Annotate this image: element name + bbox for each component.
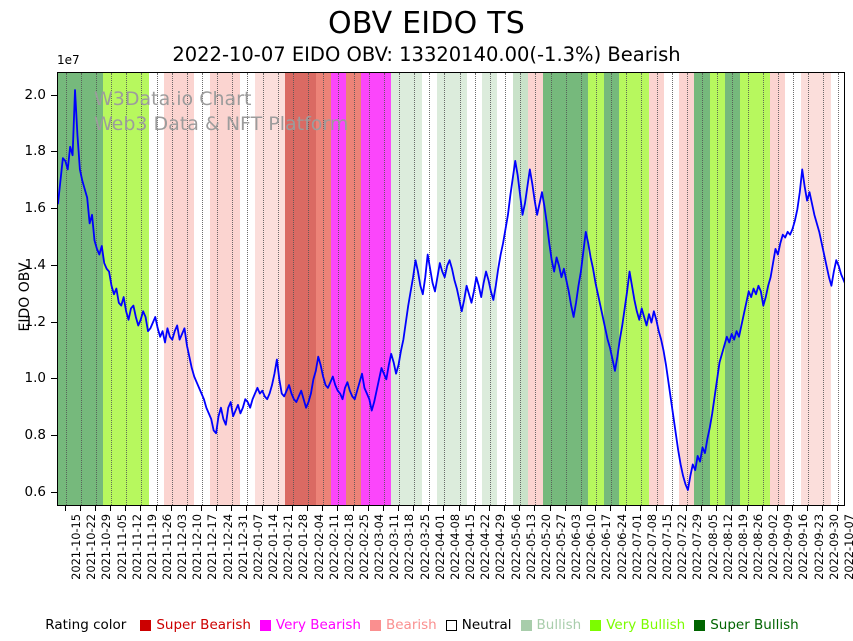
x-tick-label: 2022-03-11 <box>387 514 401 580</box>
x-tick-mark <box>216 506 217 511</box>
x-tick-label: 2022-07-22 <box>675 514 689 580</box>
x-tick-label: 2022-09-23 <box>812 514 826 580</box>
x-tick-label: 2022-09-09 <box>781 514 795 580</box>
x-tick-mark <box>550 506 551 511</box>
y-tick-label: 0.8 <box>0 427 46 443</box>
x-tick-label: 2021-12-24 <box>221 514 235 580</box>
x-tick-mark <box>822 506 823 511</box>
y-tick-label: 0.6 <box>0 484 46 500</box>
x-tick-label: 2022-05-20 <box>539 514 553 580</box>
x-tick-mark <box>307 506 308 511</box>
x-tick-mark <box>701 506 702 511</box>
x-tick-label: 2022-04-01 <box>433 514 447 580</box>
chart-subtitle: 2022-10-07 EIDO OBV: 13320140.00(-1.3%) … <box>0 43 853 66</box>
x-tick-mark <box>277 506 278 511</box>
y-tick-label: 2.0 <box>0 87 46 103</box>
x-tick-label: 2022-02-04 <box>312 514 326 580</box>
x-tick-label: 2022-07-01 <box>630 514 644 580</box>
x-tick-label: 2022-03-18 <box>402 514 416 580</box>
x-tick-mark <box>504 506 505 511</box>
x-tick-mark <box>95 506 96 511</box>
x-tick-label: 2021-10-15 <box>69 514 83 580</box>
x-tick-mark <box>656 506 657 511</box>
y-tick-label: 1.8 <box>0 143 46 159</box>
x-tick-mark <box>201 506 202 511</box>
x-tick-label: 2021-11-12 <box>130 514 144 580</box>
x-tick-label: 2022-10-07 <box>842 514 853 580</box>
x-tick-label: 2022-05-13 <box>524 514 538 580</box>
x-tick-label: 2022-04-22 <box>478 514 492 580</box>
legend-label: Very Bearish <box>276 617 361 633</box>
legend-entry[interactable]: Very Bearish <box>260 617 361 633</box>
x-tick-label: 2021-12-10 <box>190 514 204 580</box>
legend-entry[interactable]: Super Bearish <box>140 617 251 633</box>
legend-label: Very Bullish <box>606 617 685 633</box>
x-tick-mark <box>625 506 626 511</box>
x-tick-mark <box>443 506 444 511</box>
x-tick-label: 2022-04-08 <box>448 514 462 580</box>
x-tick-label: 2022-09-30 <box>827 514 841 580</box>
legend-swatch-icon <box>446 620 457 631</box>
x-tick-label: 2021-12-17 <box>205 514 219 580</box>
x-tick-mark <box>231 506 232 511</box>
x-tick-label: 2022-01-21 <box>281 514 295 580</box>
x-tick-mark <box>171 506 172 511</box>
legend-label: Bullish <box>537 617 582 633</box>
x-tick-mark <box>534 506 535 511</box>
x-tick-label: 2022-04-15 <box>463 514 477 580</box>
x-tick-mark <box>337 506 338 511</box>
x-tick-label: 2021-11-26 <box>160 514 174 580</box>
x-tick-mark <box>580 506 581 511</box>
x-tick-label: 2022-08-12 <box>721 514 735 580</box>
x-tick-mark <box>368 506 369 511</box>
x-tick-mark <box>519 506 520 511</box>
plot-area[interactable]: W3Data.io Chart Web3 Data & NFT Platform <box>57 72 845 506</box>
x-tick-mark <box>80 506 81 511</box>
x-tick-mark <box>186 506 187 511</box>
x-tick-label: 2022-02-25 <box>357 514 371 580</box>
x-tick-mark <box>640 506 641 511</box>
x-tick-mark <box>428 506 429 511</box>
x-tick-label: 2021-12-03 <box>175 514 189 580</box>
x-tick-label: 2022-01-28 <box>296 514 310 580</box>
x-tick-mark <box>837 506 838 511</box>
x-tick-label: 2022-05-27 <box>554 514 568 580</box>
legend-entry[interactable]: Neutral <box>446 617 512 633</box>
x-tick-mark <box>459 506 460 511</box>
x-tick-mark <box>140 506 141 511</box>
x-tick-mark <box>716 506 717 511</box>
x-tick-mark <box>610 506 611 511</box>
x-tick-label: 2022-05-06 <box>509 514 523 580</box>
y-axis-title: EIDO OBV <box>17 217 33 377</box>
x-axis: 2021-10-152021-10-222021-10-292021-11-05… <box>0 506 853 606</box>
x-tick-label: 2022-07-15 <box>660 514 674 580</box>
legend-label: Super Bearish <box>156 617 251 633</box>
legend-swatch-icon <box>140 620 151 631</box>
x-tick-label: 2022-08-26 <box>751 514 765 580</box>
x-tick-label: 2022-09-02 <box>766 514 780 580</box>
legend-label: Super Bullish <box>710 617 799 633</box>
x-tick-label: 2021-11-05 <box>115 514 129 580</box>
x-tick-mark <box>292 506 293 511</box>
x-tick-label: 2022-06-03 <box>569 514 583 580</box>
legend-label: Neutral <box>462 617 512 633</box>
x-tick-mark <box>762 506 763 511</box>
legend-swatch-icon <box>521 620 532 631</box>
legend-swatch-icon <box>260 620 271 631</box>
x-tick-mark <box>489 506 490 511</box>
x-tick-mark <box>110 506 111 511</box>
x-tick-label: 2021-10-22 <box>84 514 98 580</box>
x-tick-label: 2022-03-25 <box>418 514 432 580</box>
x-tick-label: 2022-01-14 <box>266 514 280 580</box>
x-tick-mark <box>65 506 66 511</box>
x-tick-mark <box>595 506 596 511</box>
legend-swatch-icon <box>590 620 601 631</box>
x-tick-label: 2021-10-29 <box>99 514 113 580</box>
x-tick-mark <box>353 506 354 511</box>
x-tick-label: 2022-06-24 <box>615 514 629 580</box>
x-tick-mark <box>777 506 778 511</box>
x-tick-mark <box>807 506 808 511</box>
x-tick-label: 2022-07-08 <box>645 514 659 580</box>
y-axis-offset-label: 1e7 <box>57 53 80 67</box>
x-tick-label: 2022-04-29 <box>493 514 507 580</box>
x-tick-label: 2021-11-19 <box>145 514 159 580</box>
obv-line-series <box>58 73 845 506</box>
x-tick-label: 2022-06-10 <box>584 514 598 580</box>
x-tick-mark <box>398 506 399 511</box>
legend-swatch-icon <box>370 620 381 631</box>
legend-entry[interactable]: Bearish <box>370 617 437 633</box>
x-tick-mark <box>565 506 566 511</box>
y-tick-label: 1.6 <box>0 200 46 216</box>
x-tick-label: 2022-03-04 <box>372 514 386 580</box>
x-tick-mark <box>747 506 748 511</box>
x-tick-mark <box>246 506 247 511</box>
page-title: OBV EIDO TS <box>0 6 853 41</box>
x-tick-label: 2022-06-17 <box>599 514 613 580</box>
x-tick-mark <box>671 506 672 511</box>
x-tick-label: 2022-02-18 <box>342 514 356 580</box>
legend-title: Rating color <box>45 617 126 633</box>
x-tick-mark <box>413 506 414 511</box>
legend: Rating color Super BearishVery BearishBe… <box>0 612 853 638</box>
x-tick-mark <box>474 506 475 511</box>
x-tick-mark <box>262 506 263 511</box>
legend-entry[interactable]: Super Bullish <box>694 617 799 633</box>
x-tick-label: 2022-08-05 <box>706 514 720 580</box>
x-tick-mark <box>322 506 323 511</box>
legend-entry[interactable]: Very Bullish <box>590 617 685 633</box>
x-tick-label: 2021-12-31 <box>236 514 250 580</box>
x-tick-mark <box>156 506 157 511</box>
chart-root: OBV EIDO TS 2022-10-07 EIDO OBV: 1332014… <box>0 0 853 641</box>
x-tick-mark <box>792 506 793 511</box>
x-tick-label: 2022-02-11 <box>327 514 341 580</box>
x-tick-mark <box>686 506 687 511</box>
x-tick-mark <box>731 506 732 511</box>
x-tick-mark <box>383 506 384 511</box>
x-tick-label: 2022-01-07 <box>251 514 265 580</box>
x-tick-label: 2022-07-29 <box>690 514 704 580</box>
x-tick-mark <box>125 506 126 511</box>
x-tick-label: 2022-08-19 <box>736 514 750 580</box>
x-tick-label: 2022-09-16 <box>796 514 810 580</box>
legend-entry[interactable]: Bullish <box>521 617 582 633</box>
legend-swatch-icon <box>694 620 705 631</box>
legend-label: Bearish <box>386 617 437 633</box>
